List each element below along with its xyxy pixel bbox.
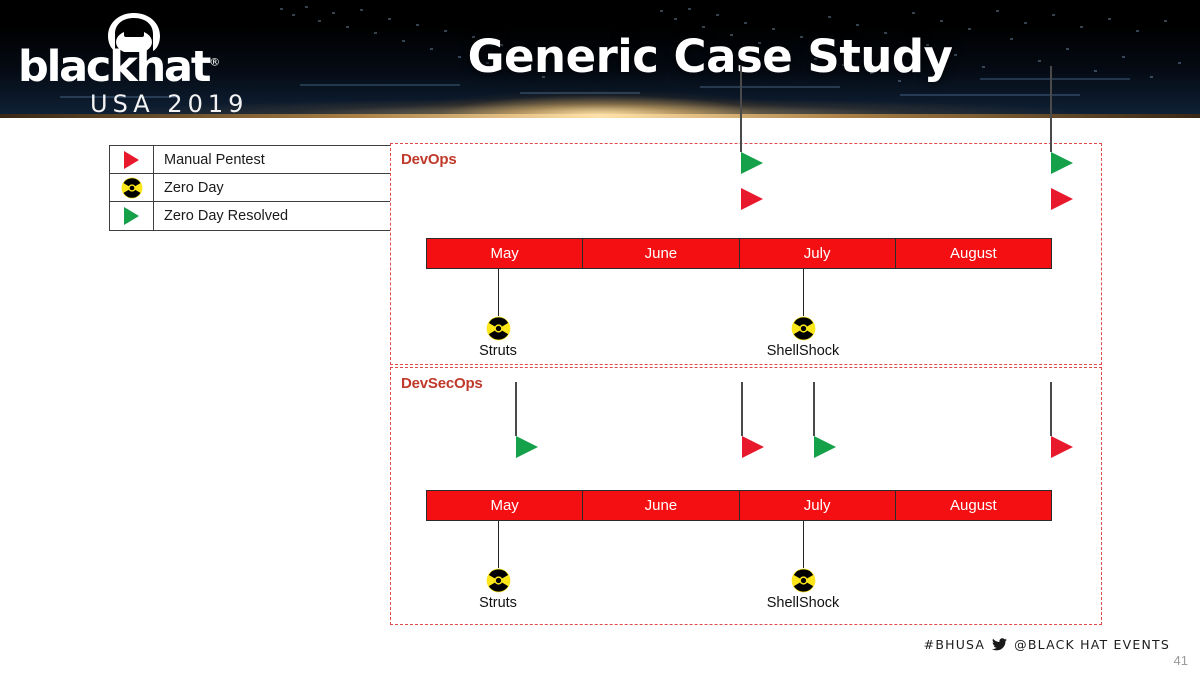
- footer-handle: @BLACK HAT EVENTS: [1014, 637, 1170, 652]
- zero-day-label: Struts: [438, 343, 558, 359]
- timeline-devsecops: May June July August: [426, 490, 1052, 521]
- zero-day-label: Struts: [438, 595, 558, 611]
- panel-devsecops: DevSecOps May June July August: [390, 367, 1102, 625]
- legend-row-zero-day: Zero Day: [110, 174, 390, 202]
- legend-label: Manual Pentest: [154, 152, 265, 168]
- logo-edition-text: USA 2019: [90, 92, 248, 116]
- timeline-segment-may: May: [427, 491, 583, 520]
- zero-day-connector: [498, 269, 499, 316]
- legend-icon-cell: [110, 174, 154, 201]
- flag-pole: [741, 382, 743, 436]
- timeline-segment-july: July: [740, 239, 896, 268]
- zero-day-label: ShellShock: [743, 595, 863, 611]
- timeline-devops: May June July August: [426, 238, 1052, 269]
- footer: #BHUSA @BLACK HAT EVENTS: [924, 637, 1170, 652]
- legend-label: Zero Day Resolved: [154, 208, 288, 224]
- logo-registered-mark: ®: [209, 56, 220, 69]
- legend-row-zero-day-resolved: Zero Day Resolved: [110, 202, 390, 230]
- green-flag-icon: [1051, 152, 1073, 174]
- flag-pole: [813, 382, 815, 436]
- green-triangle-icon: [124, 207, 139, 225]
- zero-day-connector: [498, 521, 499, 568]
- timeline-segment-may: May: [427, 239, 583, 268]
- green-flag-icon: [814, 436, 836, 458]
- zero-day-connector: [803, 521, 804, 568]
- red-flag-icon: [1051, 188, 1073, 210]
- timeline-segment-july: July: [740, 491, 896, 520]
- blackhat-logo: blackhat® USA 2019: [18, 12, 268, 112]
- red-flag-icon: [1051, 436, 1073, 458]
- zero-day-connector: [803, 269, 804, 316]
- twitter-bird-icon: [992, 638, 1007, 651]
- legend-label: Zero Day: [154, 180, 224, 196]
- green-flag-icon: [741, 152, 763, 174]
- slide-number: 41: [1174, 653, 1188, 668]
- footer-hashtag: #BHUSA: [924, 637, 986, 652]
- radiation-icon: [486, 316, 511, 341]
- panel-title: DevSecOps: [401, 375, 483, 392]
- slide: blackhat® USA 2019 Generic Case Study Ma…: [0, 0, 1200, 674]
- panel-title: DevOps: [401, 151, 457, 168]
- page-title: Generic Case Study: [300, 30, 1120, 83]
- timeline-segment-june: June: [583, 239, 739, 268]
- radiation-icon: [791, 568, 816, 593]
- logo-wordmark: blackhat®: [18, 46, 268, 89]
- timeline-segment-august: August: [896, 239, 1051, 268]
- timeline-segment-june: June: [583, 491, 739, 520]
- legend-icon-cell: [110, 202, 154, 230]
- flag-pole: [515, 382, 517, 436]
- timeline-segment-august: August: [896, 491, 1051, 520]
- slide-header: blackhat® USA 2019 Generic Case Study: [0, 0, 1200, 118]
- zero-day-label: ShellShock: [743, 343, 863, 359]
- radiation-icon: [791, 316, 816, 341]
- red-flag-icon: [742, 436, 764, 458]
- flag-pole: [1050, 66, 1052, 152]
- panel-devops: DevOps May June July August: [390, 143, 1102, 365]
- flag-pole: [1050, 382, 1052, 436]
- legend-row-manual-pentest: Manual Pentest: [110, 146, 390, 174]
- red-triangle-icon: [124, 151, 139, 169]
- flag-pole: [740, 66, 742, 152]
- logo-brand-text: blackhat: [18, 42, 209, 92]
- green-flag-icon: [516, 436, 538, 458]
- legend-icon-cell: [110, 146, 154, 173]
- legend: Manual Pentest Zero Day Zero Day Res: [109, 145, 391, 231]
- radiation-icon: [486, 568, 511, 593]
- red-flag-icon: [741, 188, 763, 210]
- radiation-icon: [121, 177, 143, 199]
